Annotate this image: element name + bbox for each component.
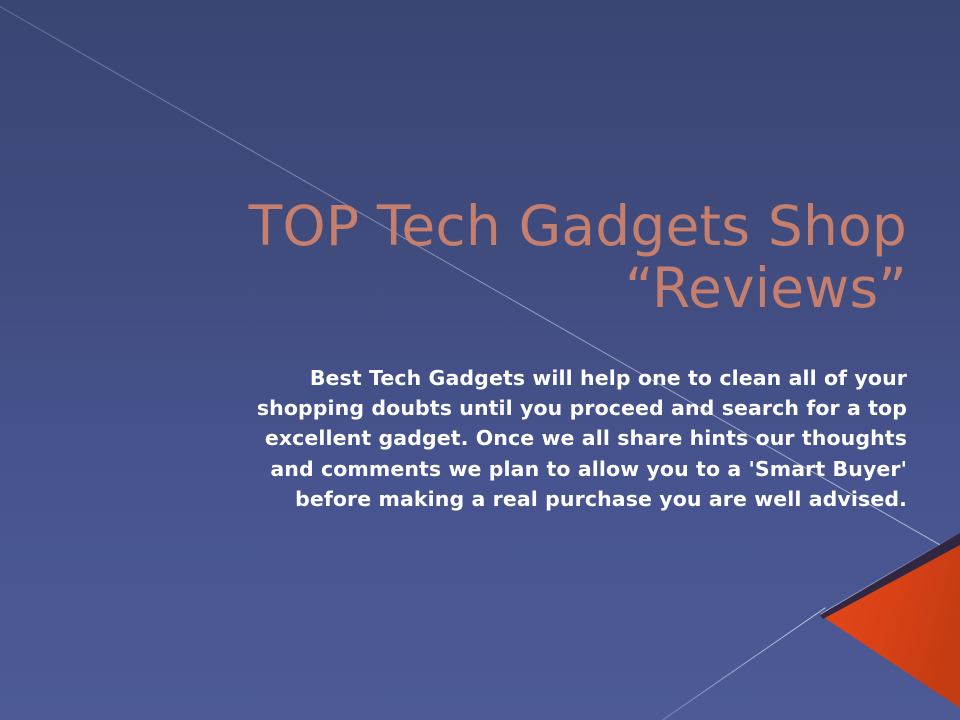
body-line: Best Tech Gadgets will help one to clean…: [310, 366, 907, 390]
slide-canvas: TOP Tech Gadgets Shop “Reviews” Best Tec…: [0, 0, 960, 720]
slide-content: TOP Tech Gadgets Shop “Reviews” Best Tec…: [56, 196, 907, 514]
body-paragraph: Best Tech Gadgets will help one to clean…: [56, 363, 907, 514]
body-line: and comments we plan to allow you to a '…: [270, 457, 907, 481]
body-line: shopping doubts until you proceed and se…: [257, 396, 907, 420]
page-title-line-1: TOP Tech Gadgets Shop: [249, 194, 907, 258]
page-title: TOP Tech Gadgets Shop “Reviews”: [56, 196, 907, 319]
page-title-line-2: “Reviews”: [625, 256, 907, 320]
body-line: before making a real purchase you are we…: [295, 487, 907, 511]
body-line: excellent gadget. Once we all share hint…: [265, 426, 907, 450]
